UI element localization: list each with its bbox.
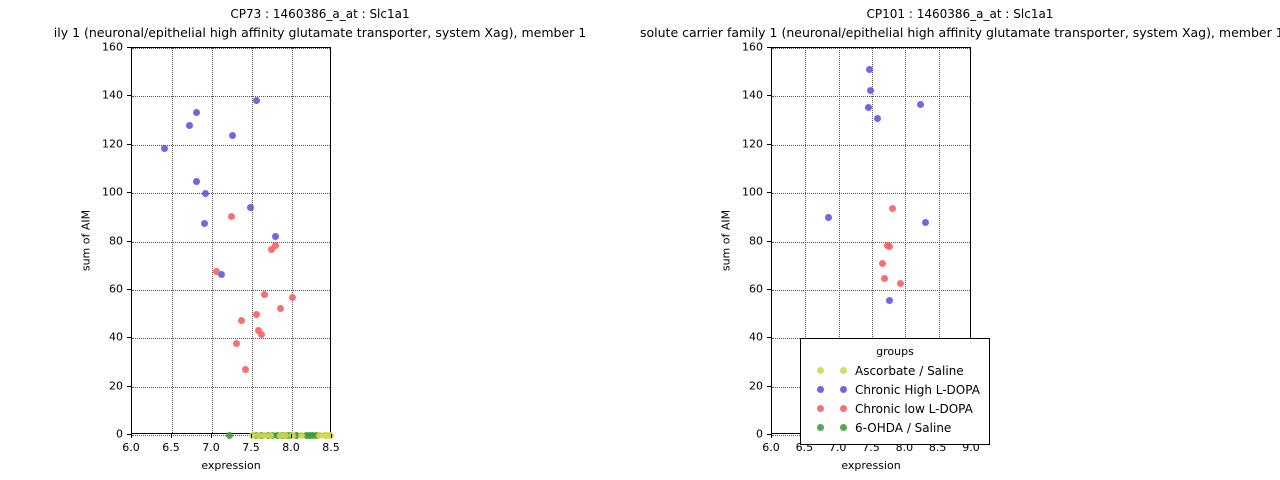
y-tick-label: 40 bbox=[83, 331, 123, 344]
data-point bbox=[277, 305, 284, 312]
y-tick-label: 0 bbox=[723, 428, 763, 441]
data-point bbox=[874, 115, 881, 122]
y-tick-mark bbox=[767, 47, 771, 48]
data-point bbox=[258, 331, 265, 338]
y-tick-mark bbox=[127, 144, 131, 145]
legend-entry-4: 6-OHDA / Saline bbox=[809, 418, 981, 437]
data-point bbox=[881, 275, 888, 282]
x-tick-label: 6.5 bbox=[162, 441, 180, 454]
y-tick-mark bbox=[127, 95, 131, 96]
data-point bbox=[247, 204, 254, 211]
data-point bbox=[229, 132, 236, 139]
data-point bbox=[879, 260, 886, 267]
data-point bbox=[889, 205, 896, 212]
data-point bbox=[193, 109, 200, 116]
legend-marker-icon bbox=[817, 386, 824, 393]
data-point bbox=[917, 101, 924, 108]
gridline-horizontal bbox=[132, 387, 330, 388]
x-tick-mark bbox=[171, 434, 172, 438]
y-tick-mark bbox=[767, 289, 771, 290]
plot-title: CP101 : 1460386_a_at : Slc1a1 bbox=[640, 7, 1280, 21]
data-point bbox=[272, 233, 279, 240]
x-tick-label: 6.0 bbox=[762, 441, 780, 454]
data-point bbox=[233, 340, 240, 347]
y-tick-mark bbox=[767, 192, 771, 193]
legend-marker-icon bbox=[840, 405, 847, 412]
y-tick-mark bbox=[127, 289, 131, 290]
data-point bbox=[886, 297, 893, 304]
x-tick-label: 8.0 bbox=[282, 441, 300, 454]
data-point bbox=[253, 97, 260, 104]
legend-marker-icon bbox=[817, 367, 824, 374]
data-point bbox=[261, 291, 268, 298]
y-tick-mark bbox=[127, 337, 131, 338]
y-tick-label: 40 bbox=[723, 331, 763, 344]
data-point bbox=[897, 280, 904, 287]
plot-area bbox=[131, 47, 331, 434]
data-point bbox=[867, 87, 874, 94]
data-point bbox=[201, 220, 208, 227]
data-point bbox=[866, 66, 873, 73]
gridline-horizontal bbox=[772, 145, 970, 146]
gridline-horizontal bbox=[132, 290, 330, 291]
gridline-horizontal bbox=[772, 96, 970, 97]
y-tick-mark bbox=[127, 192, 131, 193]
gridline-horizontal bbox=[132, 193, 330, 194]
plot-subtitle: solute carrier family 1 (neuronal/epithe… bbox=[640, 25, 1280, 40]
data-point bbox=[226, 432, 233, 439]
legend-title: groups bbox=[809, 345, 981, 358]
legend-swatches bbox=[809, 405, 855, 412]
data-point bbox=[253, 311, 260, 318]
legend-entry-label: 6-OHDA / Saline bbox=[855, 421, 951, 435]
data-point bbox=[186, 122, 193, 129]
legend-entry-label: Ascorbate / Saline bbox=[855, 364, 964, 378]
x-tick-mark bbox=[211, 434, 212, 438]
y-tick-mark bbox=[767, 144, 771, 145]
gridline-horizontal bbox=[132, 96, 330, 97]
legend-swatches bbox=[809, 367, 855, 374]
gridline-horizontal bbox=[772, 193, 970, 194]
legend-entry-3: Chronic low L-DOPA bbox=[809, 399, 981, 418]
y-tick-mark bbox=[767, 386, 771, 387]
data-point bbox=[213, 268, 220, 275]
x-tick-mark bbox=[771, 434, 772, 438]
data-point bbox=[865, 104, 872, 111]
x-tick-label: 7.0 bbox=[202, 441, 220, 454]
y-axis-label: sum of AIM bbox=[80, 190, 93, 290]
gridline-horizontal bbox=[772, 48, 970, 49]
y-tick-mark bbox=[767, 95, 771, 96]
y-tick-mark bbox=[127, 241, 131, 242]
data-point bbox=[298, 432, 305, 439]
gridline-horizontal bbox=[772, 290, 970, 291]
y-tick-label: 120 bbox=[83, 137, 123, 150]
y-tick-label: 160 bbox=[83, 41, 123, 54]
x-axis-label: expression bbox=[841, 459, 900, 472]
panel-cp73: CP73 : 1460386_a_at : Slc1a1ily 1 (neuro… bbox=[0, 0, 640, 480]
plot-title: CP73 : 1460386_a_at : Slc1a1 bbox=[0, 7, 640, 21]
x-tick-label: 7.5 bbox=[242, 441, 260, 454]
legend-entry-2: Chronic High L-DOPA bbox=[809, 380, 981, 399]
legend-marker-icon bbox=[840, 386, 847, 393]
data-point bbox=[202, 190, 209, 197]
legend-marker-icon bbox=[817, 424, 824, 431]
data-point bbox=[161, 145, 168, 152]
y-tick-mark bbox=[127, 47, 131, 48]
legend-rows: Ascorbate / SalineChronic High L-DOPAChr… bbox=[809, 361, 981, 437]
legend-swatches bbox=[809, 424, 855, 431]
y-axis-label: sum of AIM bbox=[720, 190, 733, 290]
y-tick-label: 160 bbox=[723, 41, 763, 54]
x-tick-mark bbox=[331, 434, 332, 438]
legend-marker-icon bbox=[840, 424, 847, 431]
data-point bbox=[242, 366, 249, 373]
gridline-vertical bbox=[212, 48, 213, 433]
data-point bbox=[267, 432, 274, 439]
data-point bbox=[193, 178, 200, 185]
gridline-horizontal bbox=[772, 242, 970, 243]
x-tick-label: 8.5 bbox=[322, 441, 340, 454]
x-tick-mark bbox=[251, 434, 252, 438]
y-tick-label: 120 bbox=[723, 137, 763, 150]
gridline-horizontal bbox=[132, 48, 330, 49]
data-point bbox=[289, 294, 296, 301]
legend-entry-1: Ascorbate / Saline bbox=[809, 361, 981, 380]
legend-marker-icon bbox=[817, 405, 824, 412]
y-tick-label: 0 bbox=[83, 428, 123, 441]
legend-swatches bbox=[809, 386, 855, 393]
gridline-horizontal bbox=[132, 338, 330, 339]
y-tick-label: 20 bbox=[723, 379, 763, 392]
y-tick-mark bbox=[767, 337, 771, 338]
legend-marker-icon bbox=[840, 367, 847, 374]
x-axis-label: expression bbox=[201, 459, 260, 472]
data-point bbox=[825, 214, 832, 221]
legend-entry-label: Chronic low L-DOPA bbox=[855, 402, 973, 416]
data-point bbox=[289, 432, 296, 439]
data-point bbox=[238, 317, 245, 324]
legend: groups Ascorbate / SalineChronic High L-… bbox=[800, 338, 990, 445]
gridline-horizontal bbox=[132, 242, 330, 243]
y-tick-label: 140 bbox=[83, 89, 123, 102]
gridline-vertical bbox=[292, 48, 293, 433]
x-tick-mark bbox=[131, 434, 132, 438]
y-tick-mark bbox=[767, 241, 771, 242]
x-tick-label: 6.0 bbox=[122, 441, 140, 454]
y-tick-label: 20 bbox=[83, 379, 123, 392]
gridline-vertical bbox=[172, 48, 173, 433]
data-point bbox=[228, 213, 235, 220]
plot-subtitle: ily 1 (neuronal/epithelial high affinity… bbox=[0, 25, 640, 40]
legend-entry-label: Chronic High L-DOPA bbox=[855, 383, 980, 397]
gridline-vertical bbox=[252, 48, 253, 433]
data-point bbox=[272, 242, 279, 249]
y-tick-mark bbox=[127, 386, 131, 387]
y-tick-label: 140 bbox=[723, 89, 763, 102]
data-point bbox=[922, 219, 929, 226]
x-tick-mark bbox=[291, 434, 292, 438]
data-point bbox=[886, 243, 893, 250]
